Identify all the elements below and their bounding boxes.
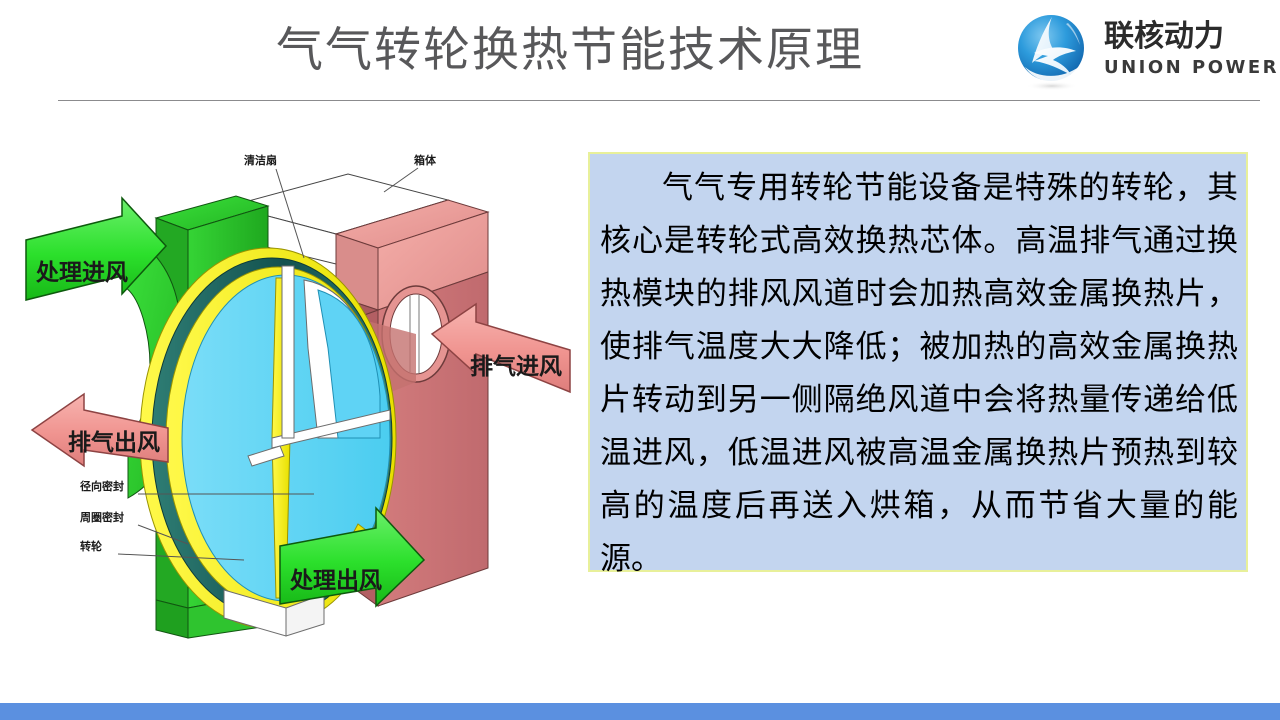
flow-arrow-label-exhaust-air-outlet: 排气出风 [68,429,160,456]
flow-arrow-label-process-air-outlet: 处理出风 [289,568,382,594]
flow-arrow-label-process-air-inlet: 处理进风 [35,260,128,286]
description-textbox: 气气专用转轮节能设备是特殊的转轮，其核心是转轮式高效换热芯体。高温排气通过换热模… [588,152,1248,572]
brand-name-en: UNION POWER [1104,57,1264,79]
brand-logo: 联核动力 UNION POWER [1012,8,1264,94]
header-divider [58,100,1260,101]
callout-label-clean-sector: 清洁扇 [244,153,277,167]
callout-label-rotor-wheel: 转轮 [80,539,102,553]
callout-label-circumferential-seal: 周圈密封 [80,510,124,524]
brand-text-block: 联核动力 UNION POWER [1104,20,1264,79]
rotary-heat-exchanger-diagram: 清洁扇 箱体 径向密封 周圈密封 转轮 处理进风 排气进风 [18,138,578,658]
description-paragraph: 气气专用转轮节能设备是特殊的转轮，其核心是转轮式高效换热芯体。高温排气通过换热模… [600,162,1238,586]
brand-name-cn: 联核动力 [1104,20,1264,54]
diagram-canvas: 清洁扇 箱体 径向密封 周圈密封 转轮 处理进风 排气进风 [18,138,578,658]
callout-casing: 箱体 [384,153,437,192]
callout-label-radial-seal: 径向密封 [80,479,124,493]
union-power-sphere-logo-icon [1012,11,1092,91]
footer-accent-bar [0,703,1280,720]
slide-header: 气气转轮换热节能技术原理 [0,0,1280,104]
flow-arrow-label-exhaust-air-inlet: 排气进风 [470,353,562,380]
page-title: 气气转轮换热节能技术原理 [250,20,890,82]
callout-label-casing: 箱体 [414,153,437,167]
